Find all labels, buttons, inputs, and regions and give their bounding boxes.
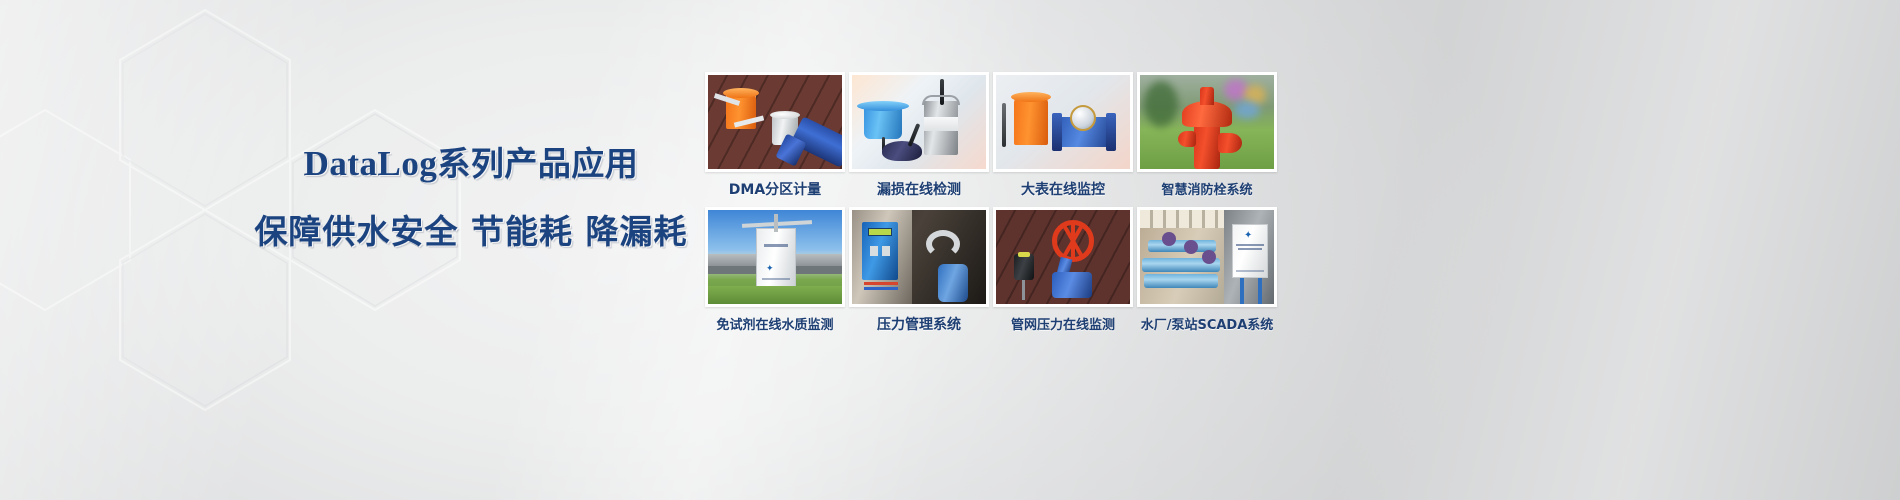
- product-thumbnail[interactable]: ✦: [705, 207, 845, 307]
- product-caption: 免试剂在线水质监测: [705, 314, 845, 333]
- pressure-management-system-photo: [852, 210, 986, 304]
- product-caption: 水厂/泵站SCADA系统: [1137, 314, 1277, 333]
- headline-brand: DataLog: [304, 144, 438, 183]
- smart-fire-hydrant-photo: [1140, 75, 1274, 169]
- headline-line-2: 保障供水安全 节能耗 降漏耗: [236, 208, 706, 256]
- large-meter-monitoring-photo: [996, 75, 1130, 169]
- product-thumbnail[interactable]: ✦: [1137, 207, 1277, 307]
- reagent-free-water-quality-photo: ✦: [708, 210, 842, 304]
- product-caption: 大表在线监控: [993, 179, 1133, 199]
- headline-line-1-cjk: 系列产品应用: [437, 144, 638, 183]
- scada-pump-station-photo: ✦: [1140, 210, 1274, 304]
- product-thumbnail[interactable]: [1137, 72, 1277, 172]
- product-card[interactable]: 管网压力在线监测: [993, 207, 1133, 334]
- headline-block: DataLog系列产品应用 保障供水安全 节能耗 降漏耗: [236, 140, 706, 256]
- product-card[interactable]: 压力管理系统: [849, 207, 989, 334]
- product-caption: 压力管理系统: [849, 314, 989, 334]
- product-grid: DMA分区计量 漏损在线检测: [705, 72, 1277, 334]
- product-card[interactable]: DMA分区计量: [705, 72, 845, 199]
- product-thumbnail[interactable]: [993, 72, 1133, 172]
- product-thumbnail[interactable]: [849, 207, 989, 307]
- product-caption: 漏损在线检测: [849, 179, 989, 199]
- product-card[interactable]: 漏损在线检测: [849, 72, 989, 199]
- product-card[interactable]: 大表在线监控: [993, 72, 1133, 199]
- product-thumbnail[interactable]: [993, 207, 1133, 307]
- product-caption: DMA分区计量: [705, 179, 845, 199]
- dma-zone-metering-photo: [708, 75, 842, 169]
- pipeline-pressure-monitoring-photo: [996, 210, 1130, 304]
- product-card[interactable]: 智慧消防栓系统: [1137, 72, 1277, 199]
- promo-banner: DataLog系列产品应用 保障供水安全 节能耗 降漏耗 DMA分区计量: [0, 0, 1900, 500]
- headline-line-1: DataLog系列产品应用: [236, 140, 706, 188]
- product-thumbnail[interactable]: [705, 72, 845, 172]
- product-caption: 管网压力在线监测: [993, 314, 1133, 333]
- product-thumbnail[interactable]: [849, 72, 989, 172]
- product-card[interactable]: ✦ 水厂/泵站SCADA系统: [1137, 207, 1277, 334]
- product-card[interactable]: ✦ 免试剂在线水质监测: [705, 207, 845, 334]
- leakage-online-detection-photo: [852, 75, 986, 169]
- product-caption: 智慧消防栓系统: [1137, 179, 1277, 198]
